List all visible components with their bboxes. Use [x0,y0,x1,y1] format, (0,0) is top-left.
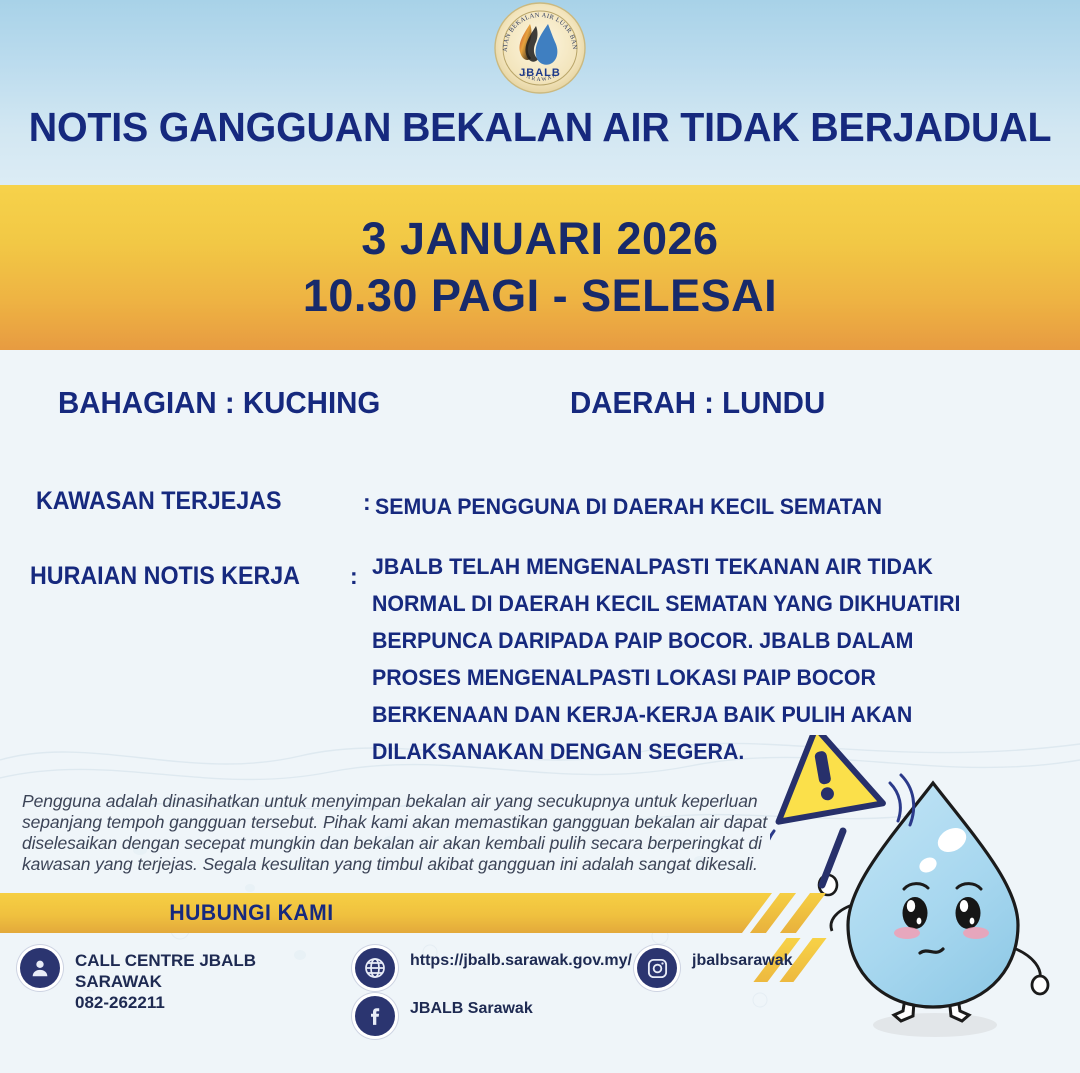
contact-call-centre-label: CALL CENTRE JBALB SARAWAK 082-262211 [75,948,256,1013]
huraian-line: JBALB TELAH MENGENALPASTI TEKANAN AIR TI… [372,548,993,585]
contact-website[interactable]: https://jbalb.sarawak.gov.my/ [355,948,632,988]
huraian-notis-kerja-label: HURAIAN NOTIS KERJA [30,562,300,591]
bahagian-value: BAHAGIAN : KUCHING [58,385,380,421]
contact-facebook[interactable]: JBALB Sarawak [355,996,533,1036]
droplet-highlight [934,823,971,857]
contact-banner-title: HUBUNGI KAMI [169,900,333,926]
date-band: 3 JANUARI 2026 10.30 PAGI - SELESAI [0,185,1080,350]
notice-time: 10.30 PAGI - SELESAI [303,268,777,324]
huraian-line: DILAKSANAKAN DENGAN SEGERA. [372,733,993,770]
droplet-body [848,783,1018,1007]
contact-banner: HUBUNGI KAMI [0,893,772,933]
huraian-line: NORMAL DI DAERAH KECIL SEMATAN YANG DIKH… [372,585,993,622]
sign-pole [822,831,843,885]
jbalb-logo-icon: JABATAN BEKALAN AIR LUAR BANDAR SARAWAK … [494,2,586,94]
contact-instagram-label: jbalbsarawak [692,948,793,971]
kawasan-colon: : [363,489,371,516]
mascot-left-arm [819,875,852,931]
poster-header: JABATAN BEKALAN AIR LUAR BANDAR SARAWAK … [0,0,1080,185]
jbalb-logo: JABATAN BEKALAN AIR LUAR BANDAR SARAWAK … [494,2,586,94]
huraian-colon: : [350,563,358,590]
globe-icon [355,948,395,988]
notice-date: 3 JANUARI 2026 [361,211,718,267]
huraian-line: PROSES MENGENALPASTI LOKASI PAIP BOCOR [372,659,993,696]
facebook-icon [355,996,395,1036]
mascot-eyebrows [904,884,981,889]
mascot-blush [963,927,989,939]
daerah-value: DAERAH : LUNDU [570,385,825,421]
huraian-notis-kerja-value: JBALB TELAH MENGENALPASTI TEKANAN AIR TI… [372,548,993,770]
kawasan-terjejas-label: KAWASAN TERJEJAS [36,487,281,516]
division-row: BAHAGIAN : KUCHING DAERAH : LUNDU [0,385,1080,435]
huraian-line: BERPUNCA DARIPADA PAIP BOCOR. JBALB DALA… [372,622,993,659]
droplet-highlight [917,855,939,876]
contact-facebook-label: JBALB Sarawak [410,996,533,1019]
advisory-text: Pengguna adalah dinasihatkan untuk menyi… [22,791,782,875]
contact-instagram[interactable]: jbalbsarawak [637,948,793,988]
svg-text:JBALB: JBALB [519,67,561,79]
notice-poster: JABATAN BEKALAN AIR LUAR BANDAR SARAWAK … [0,0,1080,1073]
mascot-shadow [873,1013,997,1037]
page-title: NOTIS GANGGUAN BEKALAN AIR TIDAK BERJADU… [22,104,1059,151]
sign-motion-lines [770,775,914,867]
contact-website-label: https://jbalb.sarawak.gov.my/ [410,948,632,971]
mascot-blush [894,927,920,939]
kawasan-terjejas-value: SEMUA PENGGUNA DI DAERAH KECIL SEMATAN [375,488,882,525]
person-icon [20,948,60,988]
instagram-icon [637,948,677,988]
huraian-line: BERKENAAN DAN KERJA-KERJA BAIK PULIH AKA… [372,696,993,733]
mascot-mouth [920,949,943,953]
mascot-eyes [903,897,981,929]
mascot-right-arm [1016,949,1048,994]
contact-call-centre[interactable]: CALL CENTRE JBALB SARAWAK 082-262211 [20,948,256,1013]
